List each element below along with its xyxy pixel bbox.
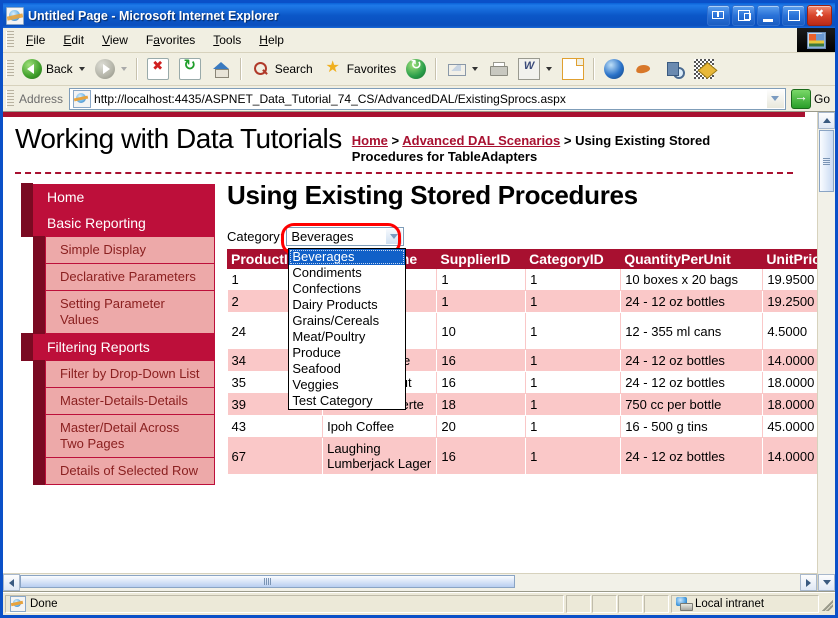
menu-help-rest: elp bbox=[268, 33, 284, 47]
horizontal-scrollbar[interactable] bbox=[3, 573, 817, 591]
cell-productid: 67 bbox=[228, 438, 323, 475]
page-icon bbox=[10, 596, 26, 612]
cell-supplierid: 1 bbox=[437, 269, 526, 291]
arrow-left-icon bbox=[9, 579, 14, 587]
edit-html-button[interactable] bbox=[689, 54, 719, 84]
sidebar-item-basic-reporting[interactable]: Basic Reporting bbox=[33, 210, 215, 236]
scroll-left-button[interactable] bbox=[3, 574, 20, 591]
scroll-up-button[interactable] bbox=[818, 112, 835, 129]
favorites-button[interactable]: Favorites bbox=[318, 54, 401, 84]
status-message-panel: Done bbox=[5, 595, 564, 613]
resize-grip[interactable] bbox=[819, 597, 833, 611]
home-button[interactable] bbox=[206, 54, 236, 84]
category-selected-value: Beverages bbox=[287, 229, 353, 244]
refresh-button[interactable] bbox=[174, 54, 206, 84]
stop-icon bbox=[147, 58, 169, 80]
option-seafood[interactable]: Seafood bbox=[289, 361, 405, 377]
cell-unitprice: 18.0000 bbox=[763, 372, 817, 394]
back-button-label: Back bbox=[46, 62, 73, 76]
search-button-label: Search bbox=[275, 62, 313, 76]
cell-categoryid: 1 bbox=[526, 416, 621, 438]
cell-supplierid: 18 bbox=[437, 394, 526, 416]
go-button-label: Go bbox=[814, 92, 830, 106]
sidebar-item-details-of-selected-row[interactable]: Details of Selected Row bbox=[45, 458, 215, 485]
window-controls: ✖ bbox=[707, 5, 835, 26]
menu-item-file[interactable]: File bbox=[17, 30, 54, 50]
table-row[interactable]: 43 Ipoh Coffee 20 1 16 - 500 g tins 45.0… bbox=[228, 416, 818, 438]
option-condiments[interactable]: Condiments bbox=[289, 265, 405, 281]
edit-html-icon bbox=[694, 59, 714, 79]
minimize-button[interactable] bbox=[757, 5, 780, 26]
close-button[interactable]: ✖ bbox=[807, 5, 832, 26]
sidebar-item-declarative-parameters[interactable]: Declarative Parameters bbox=[45, 264, 215, 291]
status-slot-2 bbox=[592, 595, 617, 613]
sidebar-item-filtering-reports[interactable]: Filtering Reports bbox=[33, 334, 215, 360]
vertical-scrollbar[interactable] bbox=[817, 112, 835, 591]
cell-supplierid: 16 bbox=[437, 372, 526, 394]
cell-unitprice: 19.9500 bbox=[763, 269, 817, 291]
cell-quantityperunit: 24 - 12 oz bottles bbox=[621, 372, 763, 394]
toolbar-separator-4 bbox=[593, 58, 595, 80]
option-beverages[interactable]: Beverages bbox=[289, 249, 405, 265]
address-gripper[interactable] bbox=[6, 90, 14, 108]
cell-quantityperunit: 24 - 12 oz bottles bbox=[621, 350, 763, 372]
cell-categoryid: 1 bbox=[526, 372, 621, 394]
sidebar-item-filter-by-drop-down-list[interactable]: Filter by Drop-Down List bbox=[45, 360, 215, 388]
menu-favorites-rest: vorites bbox=[160, 33, 195, 47]
category-filter-row: Category: Beverages Beverages bbox=[227, 225, 805, 247]
browser-window: Untitled Page - Microsoft Internet Explo… bbox=[0, 0, 838, 618]
window-title: Untitled Page - Microsoft Internet Explo… bbox=[28, 9, 707, 23]
sidebar-nav: Home Basic Reporting Simple Display Decl… bbox=[3, 174, 215, 485]
option-grains-cereals[interactable]: Grains/Cereals bbox=[289, 313, 405, 329]
col-supplierid[interactable]: SupplierID bbox=[437, 250, 526, 269]
address-bar: Address http://localhost:4435/ASPNET_Dat… bbox=[3, 86, 835, 112]
breadcrumb: Home > Advanced DAL Scenarios > Using Ex… bbox=[352, 123, 727, 165]
breadcrumb-link-section[interactable]: Advanced DAL Scenarios bbox=[402, 133, 560, 148]
arrow-right-icon bbox=[806, 579, 811, 587]
page-body: Home Basic Reporting Simple Display Decl… bbox=[3, 174, 805, 485]
messenger-button[interactable] bbox=[629, 54, 659, 84]
vscroll-track[interactable] bbox=[818, 129, 835, 574]
cell-unitprice: 19.2500 bbox=[763, 291, 817, 313]
cell-quantityperunit: 12 - 355 ml cans bbox=[621, 313, 763, 350]
web-page: Working with Data Tutorials Home > Advan… bbox=[3, 112, 805, 485]
menu-edit-rest: dit bbox=[71, 33, 84, 47]
sidebar-item-home[interactable]: Home bbox=[33, 184, 215, 210]
cell-categoryid: 1 bbox=[526, 269, 621, 291]
breadcrumb-link-home[interactable]: Home bbox=[352, 133, 388, 148]
cell-categoryid: 1 bbox=[526, 291, 621, 313]
toolbar-separator bbox=[136, 58, 138, 80]
arrow-down-icon bbox=[823, 580, 831, 585]
cell-categoryid: 1 bbox=[526, 350, 621, 372]
address-dropdown-button[interactable] bbox=[767, 90, 784, 108]
messenger-icon bbox=[634, 59, 654, 79]
mail-icon bbox=[446, 59, 466, 79]
cell-quantityperunit: 10 boxes x 20 bags bbox=[621, 269, 763, 291]
window-group-button[interactable] bbox=[732, 5, 755, 26]
toolbar-separator-3 bbox=[435, 58, 437, 80]
category-option-list[interactable]: Beverages Condiments Confections Dairy P… bbox=[288, 248, 406, 410]
security-zone-label: Local intranet bbox=[695, 598, 764, 610]
hscroll-thumb[interactable] bbox=[20, 575, 515, 588]
back-arrow-icon bbox=[22, 59, 42, 79]
table-row[interactable]: 67 Laughing Lumberjack Lager 16 1 24 - 1… bbox=[228, 438, 818, 475]
chevron-down-icon bbox=[771, 96, 779, 101]
vscroll-thumb[interactable] bbox=[819, 130, 834, 192]
page-scroll-region: Working with Data Tutorials Home > Advan… bbox=[3, 112, 817, 573]
stop-button[interactable] bbox=[142, 54, 174, 84]
note-icon bbox=[562, 58, 584, 80]
category-label: Category: bbox=[227, 229, 283, 244]
mail-chevron-down-icon[interactable] bbox=[472, 67, 478, 71]
cell-unitprice: 14.0000 bbox=[763, 350, 817, 372]
notes-button[interactable] bbox=[557, 54, 589, 84]
address-input[interactable]: http://localhost:4435/ASPNET_Data_Tutori… bbox=[69, 88, 786, 110]
breadcrumb-sep-2: > bbox=[560, 133, 575, 148]
cell-unitprice: 18.0000 bbox=[763, 394, 817, 416]
col-unitprice[interactable]: UnitPrice bbox=[763, 250, 817, 269]
page-viewport: Working with Data Tutorials Home > Advan… bbox=[3, 112, 835, 592]
cell-productid: 43 bbox=[228, 416, 323, 438]
status-bar: Done Local intranet bbox=[3, 592, 835, 615]
research-button[interactable] bbox=[659, 54, 689, 84]
col-quantityperunit[interactable]: QuantityPerUnit bbox=[621, 250, 763, 269]
toolbar-separator-2 bbox=[240, 58, 242, 80]
cell-unitprice: 14.0000 bbox=[763, 438, 817, 475]
browser-toolbar: Back Search Favorites bbox=[3, 53, 835, 86]
option-produce[interactable]: Produce bbox=[289, 345, 405, 361]
star-icon bbox=[323, 59, 343, 79]
page-icon bbox=[73, 90, 91, 108]
status-message: Done bbox=[30, 598, 58, 610]
page-header: Working with Data Tutorials Home > Advan… bbox=[3, 117, 805, 165]
ie-page-icon bbox=[6, 7, 24, 25]
option-test-category[interactable]: Test Category bbox=[289, 393, 405, 409]
menu-bar: File Edit View Favorites Tools Help bbox=[3, 28, 835, 53]
select-dropdown-button[interactable] bbox=[386, 229, 402, 244]
cell-quantityperunit: 24 - 12 oz bottles bbox=[621, 438, 763, 475]
search-button[interactable]: Search bbox=[246, 54, 318, 84]
menu-item-help[interactable]: Help bbox=[250, 30, 293, 50]
cell-categoryid: 1 bbox=[526, 313, 621, 350]
sidebar-item-master-details-details[interactable]: Master-Details-Details bbox=[45, 388, 215, 415]
option-confections[interactable]: Confections bbox=[289, 281, 405, 297]
print-button[interactable] bbox=[483, 54, 513, 84]
maximize-button[interactable] bbox=[782, 5, 805, 26]
security-zone-panel[interactable]: Local intranet bbox=[671, 595, 819, 613]
go-button[interactable]: Go bbox=[786, 89, 835, 109]
cell-quantityperunit: 750 cc per bottle bbox=[621, 394, 763, 416]
title-bar: Untitled Page - Microsoft Internet Explo… bbox=[3, 3, 835, 28]
edit-word-button[interactable] bbox=[513, 54, 557, 84]
address-label: Address bbox=[17, 92, 69, 106]
intranet-zone-icon bbox=[676, 597, 691, 611]
history-icon bbox=[406, 59, 426, 79]
cell-supplierid: 16 bbox=[437, 438, 526, 475]
globe-icon bbox=[604, 59, 624, 79]
cell-supplierid: 16 bbox=[437, 350, 526, 372]
refresh-icon bbox=[179, 58, 201, 80]
menu-item-tools[interactable]: Tools bbox=[204, 30, 250, 50]
globe-button[interactable] bbox=[599, 54, 629, 84]
site-title: Working with Data Tutorials bbox=[15, 123, 342, 155]
grip-icon bbox=[823, 158, 830, 165]
ie-brand-logo bbox=[797, 28, 835, 52]
word-chevron-down-icon[interactable] bbox=[546, 67, 552, 71]
menu-view-rest: iew bbox=[110, 33, 128, 47]
sidebar-item-setting-parameter-values[interactable]: Setting Parameter Values bbox=[45, 291, 215, 334]
scroll-right-button[interactable] bbox=[800, 574, 817, 591]
chevron-down-icon[interactable] bbox=[79, 67, 85, 71]
menu-file-rest: ile bbox=[33, 33, 45, 47]
cell-unitprice: 4.5000 bbox=[763, 313, 817, 350]
menu-item-view[interactable]: View bbox=[93, 30, 137, 50]
search-icon bbox=[251, 59, 271, 79]
favorites-button-label: Favorites bbox=[347, 62, 396, 76]
hscroll-track[interactable] bbox=[20, 574, 800, 591]
cell-categoryid: 1 bbox=[526, 438, 621, 475]
cell-productname: Laughing Lumberjack Lager bbox=[323, 438, 437, 475]
forward-button[interactable] bbox=[90, 54, 132, 84]
cell-supplierid: 10 bbox=[437, 313, 526, 350]
page-title: Using Existing Stored Procedures bbox=[227, 180, 805, 211]
research-icon bbox=[664, 59, 684, 79]
restore-split-button[interactable] bbox=[707, 5, 730, 26]
grip-icon bbox=[264, 578, 271, 585]
back-button[interactable]: Back bbox=[17, 54, 90, 84]
cell-unitprice: 45.0000 bbox=[763, 416, 817, 438]
main-content: Using Existing Stored Procedures Categor… bbox=[215, 174, 805, 475]
cell-quantityperunit: 16 - 500 g tins bbox=[621, 416, 763, 438]
menu-item-edit[interactable]: Edit bbox=[54, 30, 93, 50]
go-arrow-icon bbox=[791, 89, 811, 109]
menu-item-favorites[interactable]: Favorites bbox=[137, 30, 204, 50]
cell-supplierid: 20 bbox=[437, 416, 526, 438]
sidebar-item-simple-display[interactable]: Simple Display bbox=[45, 236, 215, 264]
address-url-text: http://localhost:4435/ASPNET_Data_Tutori… bbox=[94, 92, 767, 106]
col-categoryid[interactable]: CategoryID bbox=[526, 250, 621, 269]
sidebar-item-master-detail-across-two-pages[interactable]: Master/Detail Across Two Pages bbox=[45, 415, 215, 458]
cell-quantityperunit: 24 - 12 oz bottles bbox=[621, 291, 763, 313]
history-button[interactable] bbox=[401, 54, 431, 84]
printer-icon bbox=[488, 59, 508, 79]
menu-tools-rest: ools bbox=[219, 33, 241, 47]
mail-button[interactable] bbox=[441, 54, 483, 84]
home-icon bbox=[211, 59, 231, 79]
option-meat-poultry[interactable]: Meat/Poultry bbox=[289, 329, 405, 345]
page-area: Working with Data Tutorials Home > Advan… bbox=[3, 112, 817, 591]
forward-chevron-down-icon[interactable] bbox=[121, 67, 127, 71]
scroll-down-button[interactable] bbox=[818, 574, 835, 591]
forward-arrow-icon bbox=[95, 59, 115, 79]
cell-productname: Ipoh Coffee bbox=[323, 416, 437, 438]
chevron-down-icon bbox=[390, 234, 398, 239]
category-select[interactable]: Beverages bbox=[286, 227, 404, 246]
toolbar-gripper[interactable] bbox=[6, 60, 14, 78]
cell-supplierid: 1 bbox=[437, 291, 526, 313]
breadcrumb-sep-1: > bbox=[388, 133, 402, 148]
status-slot-1 bbox=[566, 595, 591, 613]
word-document-icon bbox=[518, 58, 540, 80]
option-dairy-products[interactable]: Dairy Products bbox=[289, 297, 405, 313]
cell-categoryid: 1 bbox=[526, 394, 621, 416]
status-slot-3 bbox=[618, 595, 643, 613]
menu-gripper[interactable] bbox=[6, 31, 14, 49]
status-slot-4 bbox=[644, 595, 669, 613]
arrow-up-icon bbox=[823, 118, 831, 123]
option-veggies[interactable]: Veggies bbox=[289, 377, 405, 393]
